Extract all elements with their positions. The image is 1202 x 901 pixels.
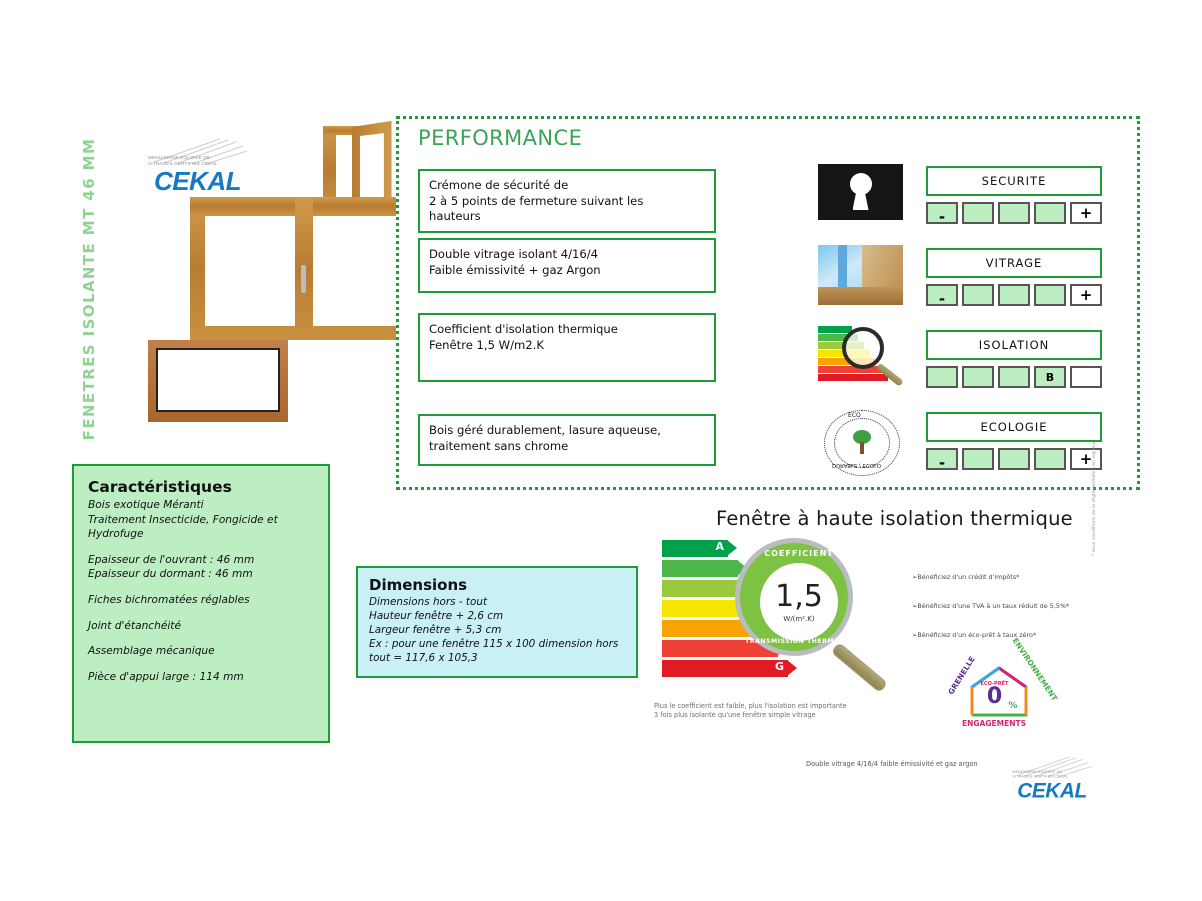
energy-caption-line2: 3 fois plus isolante qu'une fenêtre simp…: [654, 711, 904, 720]
coefficient-magnifier: COEFFICIENT 1,5 W/(m².K) TRANSMISSION TH…: [735, 538, 861, 664]
caracteristiques-title: Caractéristiques: [88, 478, 314, 496]
carac-line-6: Fiches bichromatées réglables: [88, 593, 314, 608]
dim-line-4: Ex : pour une fenêtre 115 x 100 dimensio…: [369, 637, 625, 651]
legal-side-note: * sous conditions de la règlementation e…: [1092, 441, 1097, 556]
coefficient-unit: W/(m².K): [783, 615, 814, 623]
perf-box-cremone-line1: Crémone de sécurité de: [429, 178, 705, 194]
rating-cell-vitrage-5[interactable]: +: [1070, 284, 1102, 306]
rating-cell-securite-4[interactable]: [1034, 202, 1066, 224]
rating-label-ecologie: ECOLOGIE: [926, 412, 1102, 442]
grenelle-environnement-logo: ECO-PRÊT 0 % GRENELLE ENVIRONNEMENT ENGA…: [938, 647, 1060, 733]
rating-label-isolation: ISOLATION: [926, 330, 1102, 360]
rating-row-isolation[interactable]: B: [926, 366, 1102, 388]
perf-box-cremone-line2: 2 à 5 points de fermeture suivant les: [429, 194, 705, 210]
dim-line-5: tout = 117,6 x 105,3: [369, 651, 625, 665]
rating-row-securite[interactable]: - +: [926, 202, 1102, 224]
rating-cell-isolation-1[interactable]: [926, 366, 958, 388]
rating-cell-vitrage-4[interactable]: [1034, 284, 1066, 306]
perf-box-isolation-line2: Fenêtre 1,5 W/m2.K: [429, 338, 705, 354]
cekal-tagline-line1: MENUISERIE EQUIPEE DE: [148, 155, 210, 160]
perf-box-cremone: Crémone de sécurité de 2 à 5 points de f…: [418, 169, 716, 233]
rating-cell-isolation-3[interactable]: [998, 366, 1030, 388]
rating-cell-vitrage-3[interactable]: [998, 284, 1030, 306]
eco-stamp-top-text: ECO: [848, 412, 861, 419]
rating-cell-isolation-4[interactable]: B: [1034, 366, 1066, 388]
footer-note: Double vitrage 4/16/4 faible émissivité …: [806, 760, 978, 768]
perf-box-vitrage-line2: Faible émissivité + gaz Argon: [429, 263, 705, 279]
perf-box-vitrage: Double vitrage isolant 4/16/4 Faible émi…: [418, 238, 716, 293]
cekal-tagline-bottom: MENUISERIE EQUIPEE DE VITRAGES CERTIFIES…: [1012, 770, 1096, 779]
dim-line-3: Largeur fenêtre + 5,3 cm: [369, 623, 625, 637]
energy-bar-a: A: [662, 540, 728, 557]
carac-line-5: Epaisseur du dormant : 46 mm: [88, 567, 314, 582]
perf-box-ecologie-line2: traitement sans chrome: [429, 439, 705, 455]
cekal-tagline: MENUISERIE EQUIPEE DE VITRAGES CERTIFIES…: [148, 155, 253, 166]
coefficient-value: 1,5: [775, 582, 823, 612]
grenelle-word-bottom: ENGAGEMENTS: [962, 719, 1026, 728]
benefit-item-2: ➢Bénéficiez d'une TVA à un taux réduit d…: [912, 602, 1102, 610]
eco-stamp-bottom-text: DURABLE / ECOLO: [832, 462, 881, 468]
perf-box-isolation: Coefficient d'isolation thermique Fenêtr…: [418, 313, 716, 382]
rating-cell-ecologie-5[interactable]: +: [1070, 448, 1102, 470]
glazing-photo-icon: [818, 245, 903, 305]
rating-row-ecologie[interactable]: - +: [926, 448, 1102, 470]
perf-box-vitrage-line1: Double vitrage isolant 4/16/4: [429, 247, 705, 263]
rating-label-vitrage: VITRAGE: [926, 248, 1102, 278]
cekal-wordmark-bottom: CEKAL: [1017, 778, 1087, 803]
dim-line-2: Hauteur fenêtre + 2,6 cm: [369, 609, 625, 623]
carac-line-7: Joint d'étanchéité: [88, 619, 314, 634]
rating-cell-isolation-5[interactable]: [1070, 366, 1102, 388]
rating-cell-vitrage-1[interactable]: -: [926, 284, 958, 306]
rating-row-vitrage[interactable]: - +: [926, 284, 1102, 306]
magnifier-lens: 1,5 W/(m².K): [760, 563, 838, 641]
carac-line-8: Assemblage mécanique: [88, 644, 314, 659]
carac-line-2: Traitement Insecticide, Fongicide et: [88, 513, 314, 528]
cekal-tagline-line2: VITRAGES CERTIFIES CEKAL: [148, 161, 218, 166]
carac-line-9: Pièce d'appui large : 114 mm: [88, 670, 314, 685]
magnifier-handle: [831, 642, 888, 693]
rating-label-securite: SECURITE: [926, 166, 1102, 196]
carac-line-4: Epaisseur de l'ouvrant : 46 mm: [88, 553, 314, 568]
carac-line-1: Bois exotique Méranti: [88, 498, 314, 513]
rating-cell-securite-5[interactable]: +: [1070, 202, 1102, 224]
perf-box-isolation-line1: Coefficient d'isolation thermique: [429, 322, 705, 338]
grenelle-ecopret-percent: %: [1008, 701, 1017, 711]
rating-cell-vitrage-2[interactable]: [962, 284, 994, 306]
rating-cell-ecologie-2[interactable]: [962, 448, 994, 470]
cekal-wordmark: CEKAL: [154, 166, 241, 197]
vertical-product-title: FENETRES ISOLANTE MT 46 MM: [80, 124, 114, 454]
rating-cell-securite-3[interactable]: [998, 202, 1030, 224]
grenelle-ecopret-value: 0: [981, 687, 1009, 708]
keyhole-icon: [818, 164, 903, 220]
dimensions-title: Dimensions: [369, 576, 625, 594]
energy-caption-line1: Plus le coefficient est faible, plus l'i…: [654, 702, 904, 711]
benefit-item-3: ➢Bénéficiez d'un éco-prêt à taux zéro*: [912, 631, 1102, 639]
energy-caption: Plus le coefficient est faible, plus l'i…: [654, 702, 904, 720]
rating-cell-ecologie-3[interactable]: [998, 448, 1030, 470]
dim-line-1: Dimensions hors - tout: [369, 595, 625, 609]
caracteristiques-box: Caractéristiques Bois exotique Méranti T…: [72, 464, 330, 743]
performance-title: PERFORMANCE: [418, 126, 582, 150]
rating-cell-ecologie-1[interactable]: -: [926, 448, 958, 470]
eco-tree-stamp-icon: ECO DURABLE / ECOLO: [820, 408, 908, 478]
rating-cell-securite-2[interactable]: [962, 202, 994, 224]
energy-bar-b: [662, 560, 738, 577]
magnifier-top-text: COEFFICIENT: [740, 549, 858, 558]
cekal-logo-bottom: MENUISERIE EQUIPEE DE VITRAGES CERTIFIES…: [1006, 756, 1094, 794]
promo-title: Fenêtre à haute isolation thermique: [716, 507, 1073, 530]
perf-box-ecologie-line1: Bois géré durablement, lasure aqueuse,: [429, 423, 705, 439]
rating-cell-securite-1[interactable]: -: [926, 202, 958, 224]
window-handle-icon: [301, 265, 306, 293]
dimensions-box: Dimensions Dimensions hors - tout Hauteu…: [356, 566, 638, 678]
magnifier-ring: COEFFICIENT 1,5 W/(m².K) TRANSMISSION TH…: [735, 538, 853, 656]
perf-box-cremone-line3: hauteurs: [429, 209, 705, 225]
grenelle-ecopret-badge: ECO-PRÊT 0 %: [976, 677, 1022, 711]
perf-box-ecologie: Bois géré durablement, lasure aqueuse, t…: [418, 414, 716, 466]
rating-cell-isolation-2[interactable]: [962, 366, 994, 388]
rating-cell-ecologie-4[interactable]: [1034, 448, 1066, 470]
carac-line-3: Hydrofuge: [88, 527, 314, 542]
cekal-logo-top: MENUISERIE EQUIPEE DE VITRAGES CERTIFIES…: [140, 138, 258, 200]
benefit-item-1: ➢Bénéficiez d'un crédit d'impôts*: [912, 573, 1102, 581]
poster-page: FENETRES ISOLANTE MT 46 MM MENUISERIE EQ…: [0, 0, 1202, 901]
energy-label-magnifier-icon: [818, 324, 903, 386]
